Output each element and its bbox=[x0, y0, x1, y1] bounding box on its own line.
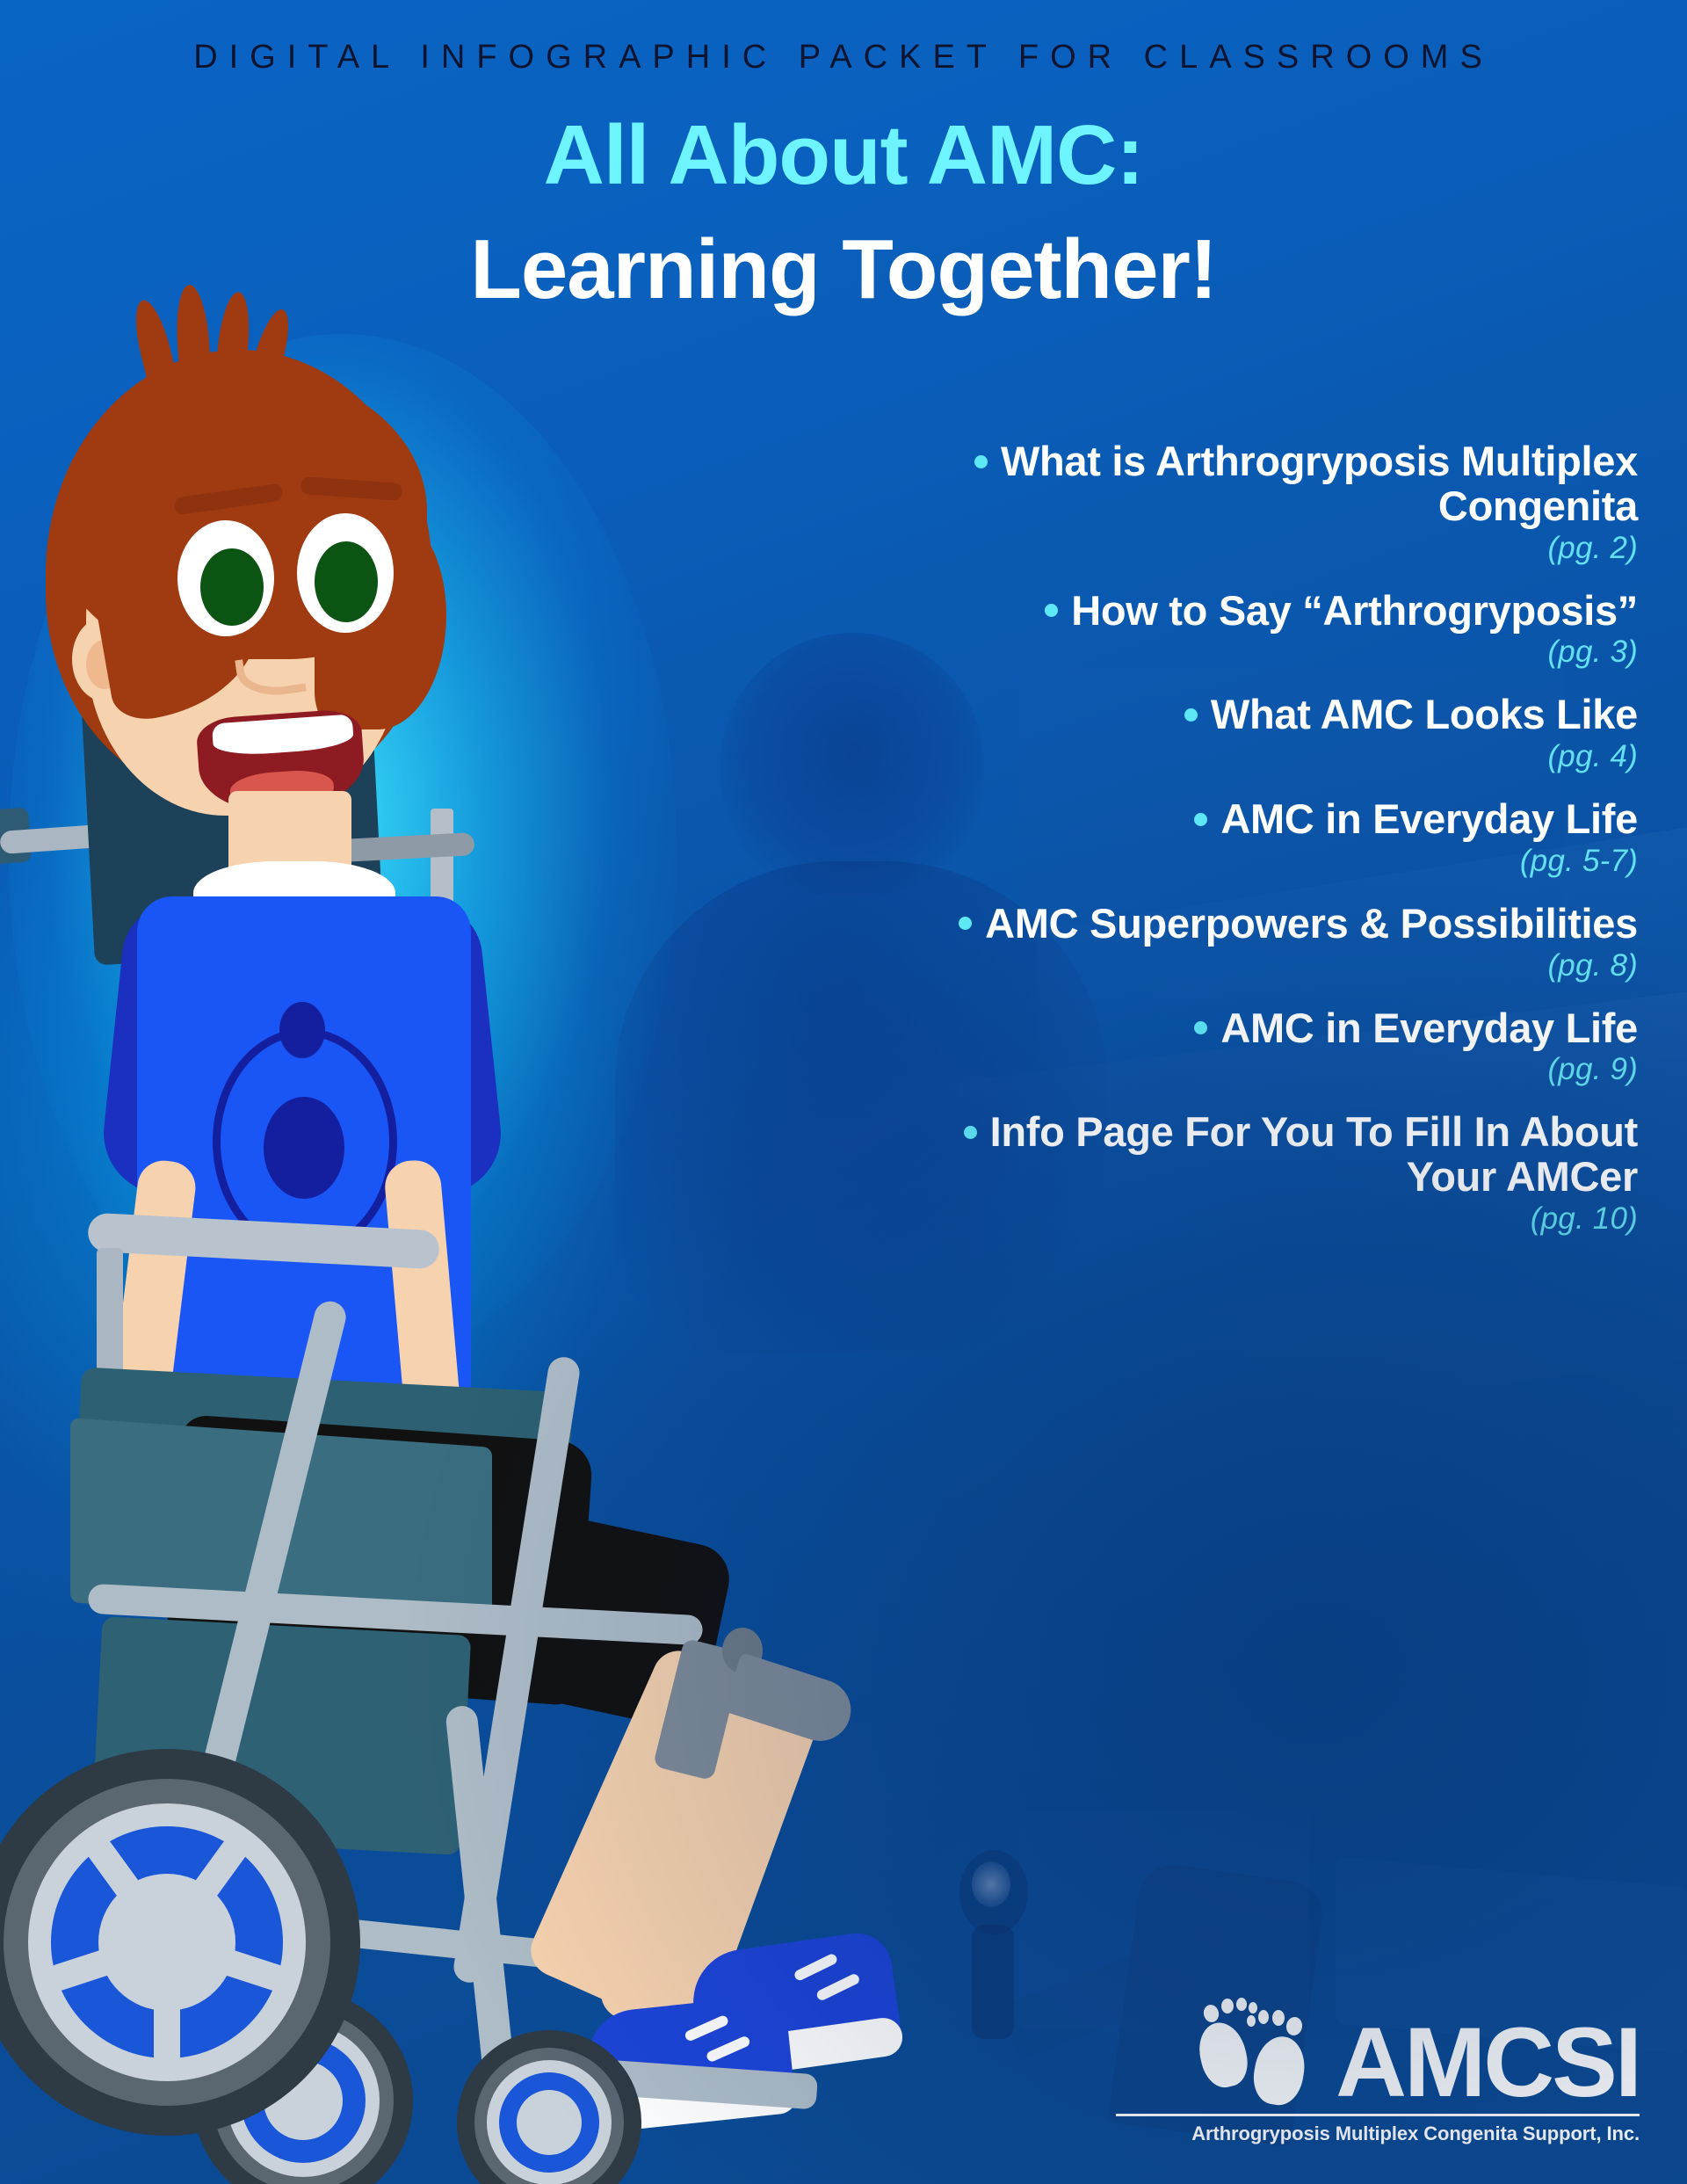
iris-left bbox=[200, 548, 264, 626]
child-in-wheelchair-illustration bbox=[0, 334, 1010, 2184]
bullet-icon bbox=[1045, 604, 1058, 617]
shoelace bbox=[684, 2014, 729, 2043]
toc-item-label: Info Page For You To Fill In About Your … bbox=[990, 1108, 1638, 1200]
bullet-icon bbox=[1194, 813, 1207, 826]
shirt-atom-nucleus-icon bbox=[264, 1097, 344, 1199]
logo-wordmark: AMCSI bbox=[1336, 2020, 1640, 2107]
iris-right bbox=[315, 541, 378, 622]
toc-item-label: AMC in Everyday Life bbox=[1220, 1005, 1638, 1051]
infographic-cover-page: DIGITAL INFOGRAPHIC PACKET FOR CLASSROOM… bbox=[0, 0, 1687, 2184]
wheel-hub bbox=[517, 2090, 582, 2155]
toc-item-label: AMC in Everyday Life bbox=[1220, 795, 1638, 842]
bullet-icon bbox=[1194, 1021, 1207, 1034]
shoelace bbox=[706, 2035, 751, 2063]
eyebrow-label: DIGITAL INFOGRAPHIC PACKET FOR CLASSROOM… bbox=[0, 39, 1687, 76]
logo-tagline: Arthrogryposis Multiplex Congenita Suppo… bbox=[1086, 2122, 1640, 2145]
bullet-icon bbox=[1184, 708, 1198, 722]
footprints-icon bbox=[1191, 1991, 1323, 2107]
toc-item-label: AMC Superpowers & Possibilities bbox=[985, 900, 1638, 947]
toc-item-label: What AMC Looks Like bbox=[1211, 691, 1638, 737]
page-title-line-2: Learning Together! bbox=[0, 221, 1687, 318]
toc-item-label: What is Arthrogryposis Multiplex Congeni… bbox=[1001, 438, 1638, 529]
page-title-line-1: All About AMC: bbox=[0, 107, 1687, 204]
amcsi-logo: AMCSI Arthrogryposis Multiplex Congenita… bbox=[1086, 1991, 1640, 2145]
wheel-hub bbox=[98, 1874, 235, 2011]
shoelace bbox=[793, 1953, 838, 1983]
shoelace bbox=[815, 1972, 861, 2002]
toc-item-label: How to Say “Arthrogryposis” bbox=[1071, 587, 1638, 634]
shirt-atom-electron-icon bbox=[279, 1002, 325, 1058]
